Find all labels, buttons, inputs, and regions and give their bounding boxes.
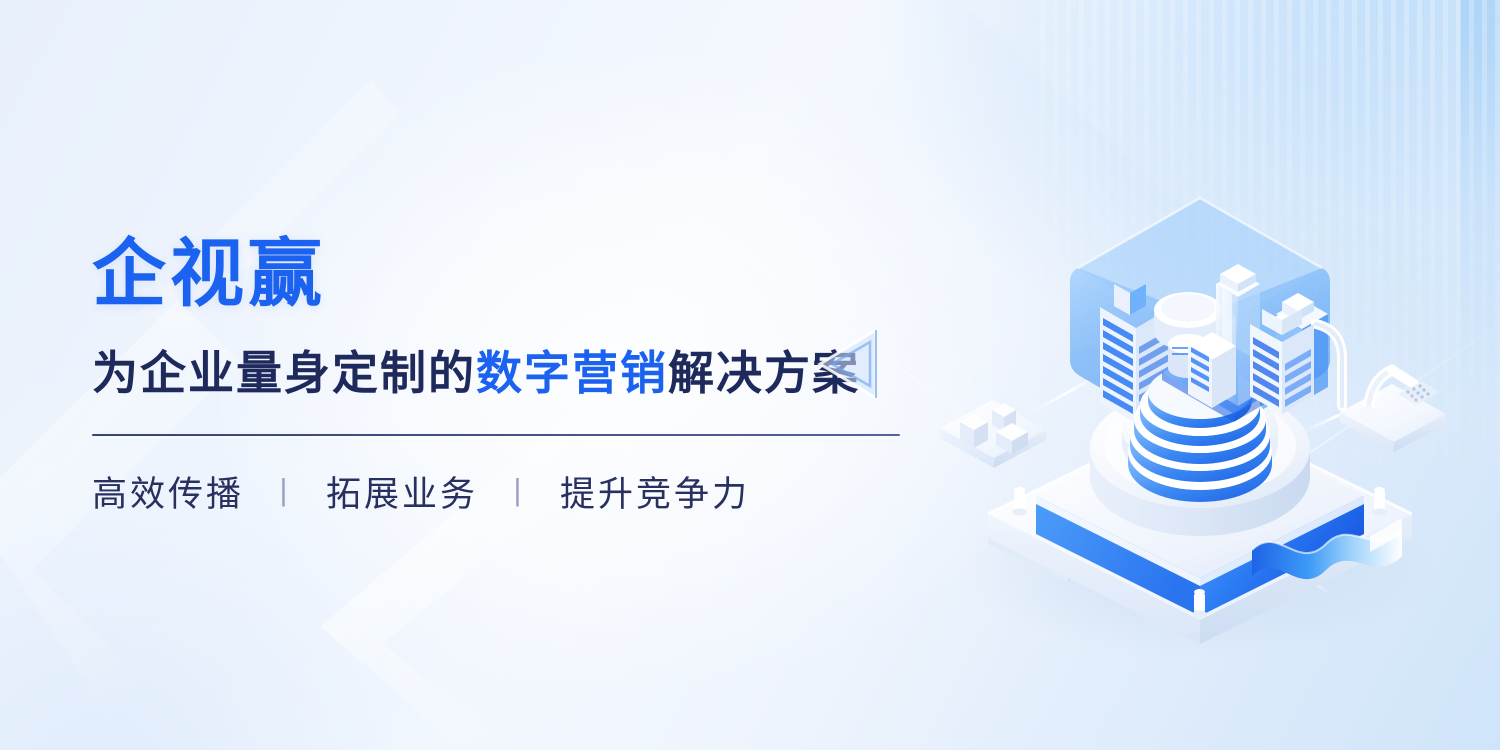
- tagline-item-2: 拓展业务: [326, 474, 478, 516]
- headline-suffix: 解决方案: [668, 347, 860, 399]
- divider-line: [92, 434, 900, 436]
- copy-block: 企视赢 为企业量身定制的数字营销解决方案 高效传播 丨 拓展业务 丨 提升竞争力: [92, 236, 922, 516]
- robot-arm-tile: [1340, 370, 1446, 452]
- tagline-separator-1: 丨: [268, 475, 302, 512]
- peg-right: [1373, 487, 1387, 516]
- tagline-item-1: 高效传播: [92, 474, 244, 516]
- divider-highlight: [92, 437, 900, 438]
- isometric-illustration: [900, 196, 1500, 666]
- marketing-banner: 企视赢 为企业量身定制的数字营销解决方案 高效传播 丨 拓展业务 丨 提升竞争力: [0, 0, 1500, 750]
- tagline-separator-2: 丨: [502, 475, 536, 512]
- peg-front: [1193, 589, 1207, 618]
- building-striped-mid: [1188, 332, 1236, 408]
- tagline: 高效传播 丨 拓展业务 丨 提升竞争力: [92, 474, 922, 516]
- peg-left: [1013, 487, 1027, 516]
- headline-highlight: 数字营销: [476, 347, 668, 399]
- headline-prefix: 为企业量身定制的: [92, 347, 476, 399]
- brand-title: 企视赢: [92, 236, 922, 311]
- satellite-building-tile: [940, 400, 1046, 468]
- tagline-item-3: 提升竞争力: [560, 474, 750, 516]
- headline: 为企业量身定制的数字营销解决方案: [92, 347, 922, 399]
